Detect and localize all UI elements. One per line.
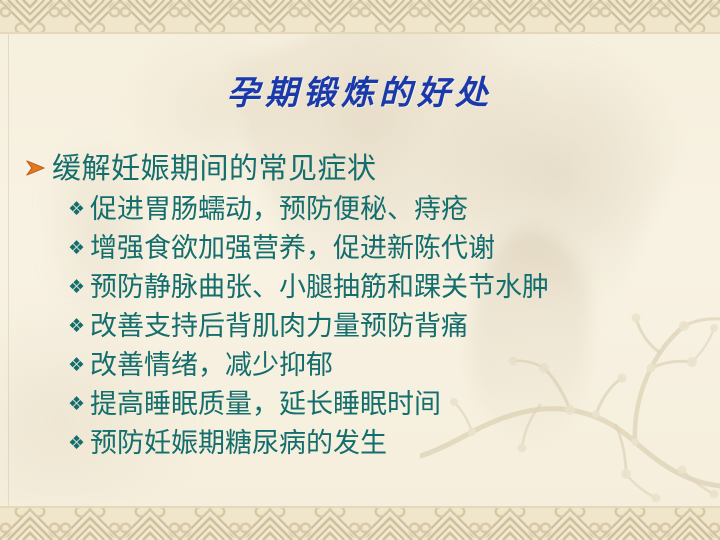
content-body: 缓解妊娠期间的常见症状 ❖ 促进胃肠蠕动，预防便秘、痔疮 ❖ 增强食欲加强营养，… xyxy=(22,148,712,463)
bullet-level1-label: 缓解妊娠期间的常见症状 xyxy=(52,148,377,188)
list-item-label: 增强食欲加强营养，促进新陈代谢 xyxy=(90,229,495,268)
list-item: ❖ 改善支持后背肌肉力量预防背痛 xyxy=(22,307,712,346)
list-item: ❖ 增强食欲加强营养，促进新陈代谢 xyxy=(22,229,712,268)
slide-canvas: 孕期锻炼的好处 缓解妊娠期间的常见症状 ❖ 促进胃肠蠕动，预防便秘、痔疮 ❖ 增… xyxy=(0,0,720,540)
page-title: 孕期锻炼的好处 xyxy=(0,66,720,114)
list-item: ❖ 改善情绪，减少抑郁 xyxy=(22,346,712,385)
list-item: ❖ 预防妊娠期糖尿病的发生 xyxy=(22,424,712,463)
diamond-bullet-icon: ❖ xyxy=(68,190,90,229)
arrow-bullet-icon xyxy=(22,148,52,188)
list-item-label: 预防妊娠期糖尿病的发生 xyxy=(90,424,387,463)
list-item-label: 改善支持后背肌肉力量预防背痛 xyxy=(90,307,468,346)
ornamental-border-top xyxy=(0,0,720,34)
list-item: ❖ 促进胃肠蠕动，预防便秘、痔疮 xyxy=(22,190,712,229)
list-item: ❖ 提高睡眠质量，延长睡眠时间 xyxy=(22,385,712,424)
ornamental-border-bottom xyxy=(0,506,720,540)
list-item: ❖ 预防静脉曲张、小腿抽筋和踝关节水肿 xyxy=(22,268,712,307)
bullet-level1: 缓解妊娠期间的常见症状 xyxy=(22,148,712,188)
diamond-bullet-icon: ❖ xyxy=(68,229,90,268)
diamond-bullet-icon: ❖ xyxy=(68,268,90,307)
list-item-label: 预防静脉曲张、小腿抽筋和踝关节水肿 xyxy=(90,268,549,307)
list-item-label: 改善情绪，减少抑郁 xyxy=(90,346,333,385)
list-item-label: 促进胃肠蠕动，预防便秘、痔疮 xyxy=(90,190,468,229)
diamond-bullet-icon: ❖ xyxy=(68,307,90,346)
diamond-bullet-icon: ❖ xyxy=(68,424,90,463)
list-item-label: 提高睡眠质量，延长睡眠时间 xyxy=(90,385,441,424)
diamond-bullet-icon: ❖ xyxy=(68,346,90,385)
diamond-bullet-icon: ❖ xyxy=(68,385,90,424)
